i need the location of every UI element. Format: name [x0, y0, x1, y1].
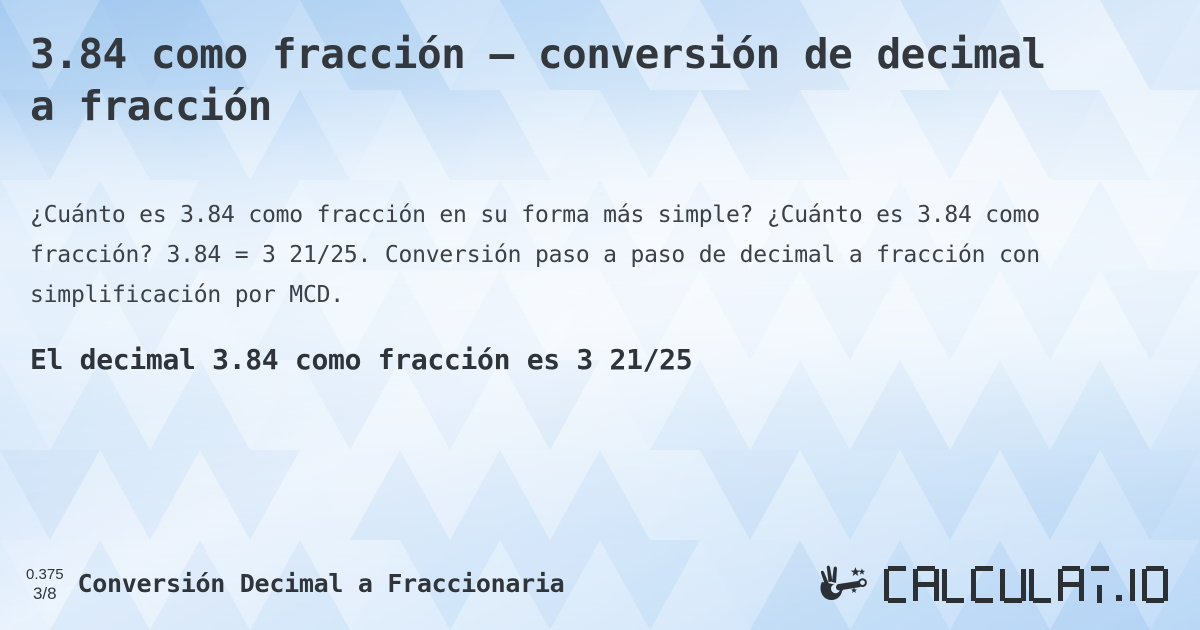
wordmark-char-l2	[1029, 566, 1055, 603]
footer: 0.375 3/8 Conversión Decimal a Fracciona…	[0, 538, 1200, 630]
wordmark-char-c2	[971, 566, 997, 603]
wordmark-char-u	[1000, 566, 1026, 603]
wordmark-char-a	[913, 566, 939, 603]
wordmark-char-i	[1125, 566, 1139, 603]
site-logo[interactable]	[818, 564, 1174, 604]
hand-magic-wand-icon	[818, 564, 878, 604]
wordmark-char-dot	[1116, 595, 1122, 601]
brand-wordmark	[884, 566, 1168, 603]
fraction-logo-decimal: 0.375	[26, 567, 64, 584]
footer-section-brand[interactable]: 0.375 3/8 Conversión Decimal a Fracciona…	[26, 565, 564, 603]
wordmark-char-a2	[1058, 566, 1084, 603]
answer-statement: El decimal 3.84 como fracción es 3 21/25	[30, 341, 1150, 379]
og-image-canvas: 3.84 como fracción – conversión de decim…	[0, 0, 1200, 630]
page-title: 3.84 como fracción – conversión de decim…	[30, 28, 1090, 132]
fraction-logo-icon: 0.375 3/8	[26, 565, 64, 603]
footer-section-title: Conversión Decimal a Fraccionaria	[78, 569, 565, 598]
page-description: ¿Cuánto es 3.84 como fracción en su form…	[30, 195, 1140, 315]
wordmark-char-o	[1142, 566, 1168, 603]
fraction-logo-fraction: 3/8	[33, 584, 57, 603]
wordmark-char-t	[1087, 566, 1113, 603]
wordmark-char-l	[942, 566, 968, 603]
wordmark-char-c	[884, 566, 910, 603]
